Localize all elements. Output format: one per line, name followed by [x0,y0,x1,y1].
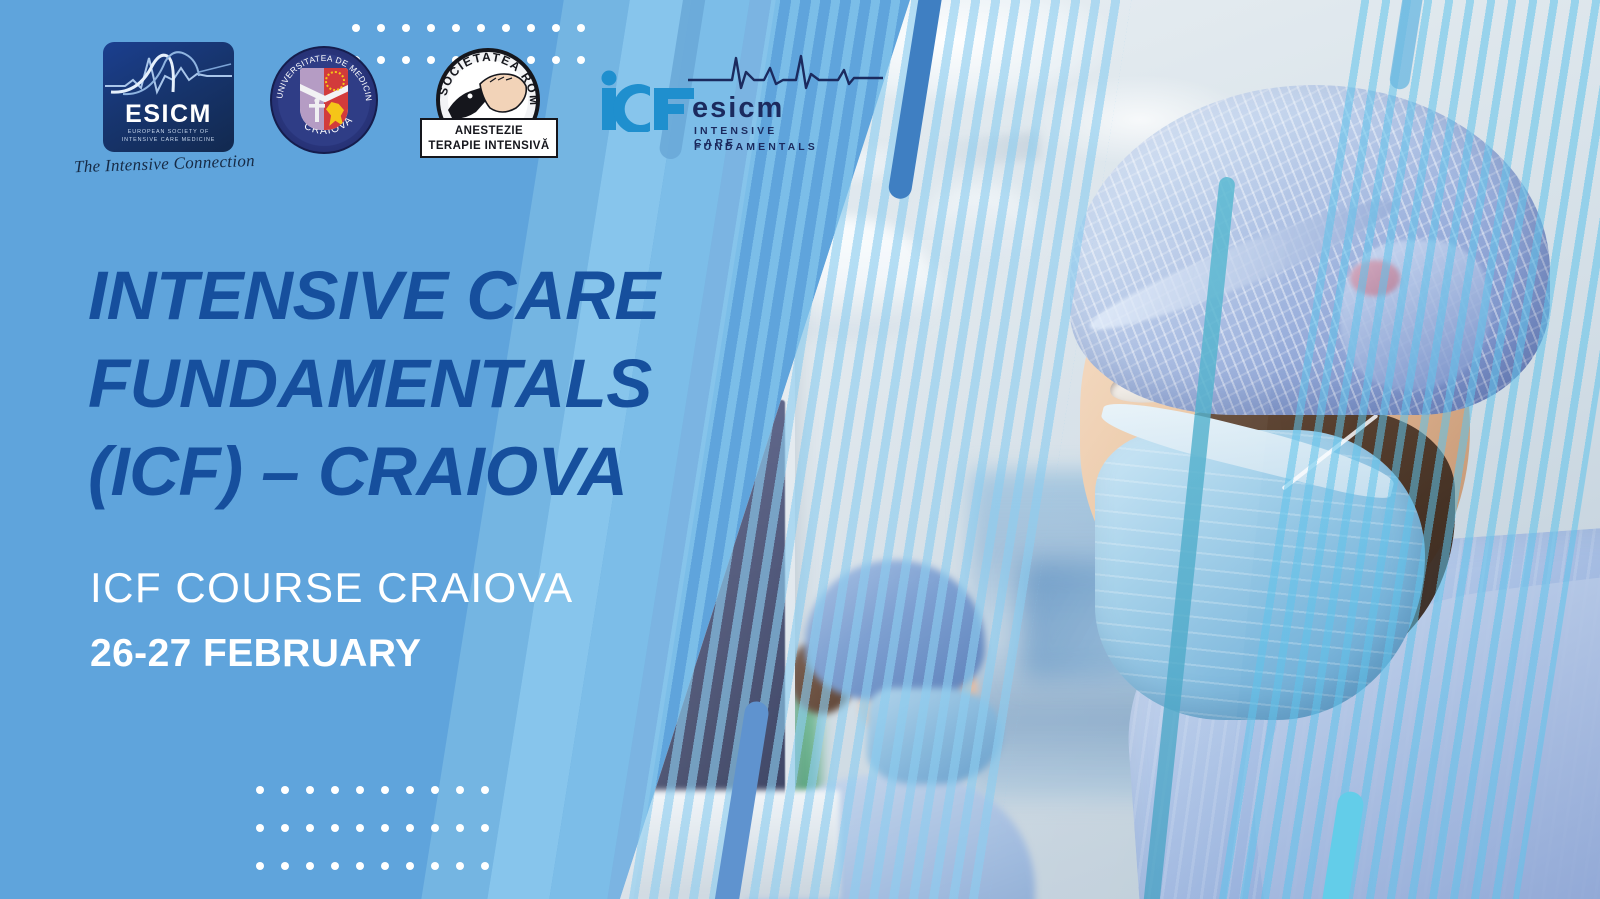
icf-monogram-icon [600,70,700,132]
umf-coat-of-arms [300,68,348,130]
esicm-tagline: The Intensive Connection [74,151,265,178]
srati-box-line1: ANESTEZIE [422,124,556,139]
decorative-dot [356,824,364,832]
decorative-dot [381,862,389,870]
umf-caduceus-icon [308,98,326,124]
decorative-dot [256,824,264,832]
icf-esicm-wordmark: esicm [692,92,784,125]
decorative-dot [281,862,289,870]
esicm-waveform-icon [103,46,234,104]
decorative-dot [331,862,339,870]
page-title: INTENSIVE CAREFUNDAMENTALS(ICF) – CRAIOV… [88,252,728,516]
logo-icf[interactable]: esicm INTENSIVE CARE FUNDAMENTALS [600,48,810,158]
logo-srati[interactable]: SOCIETATEA ROMÂNĂ ANESTEZIE TERAPIE INTE… [420,48,558,158]
decorative-dot [356,786,364,794]
esicm-subtitle-line2: INTENSIVE CARE MEDICINE [103,136,234,144]
decorative-dot [256,786,264,794]
event-subtitle: ICF COURSE CRAIOVA [90,564,574,612]
icf-ecg-waveform-icon [688,50,883,92]
decorative-dot [381,824,389,832]
event-banner: ESICM EUROPEAN SOCIETY OF INTENSIVE CARE… [0,0,1600,899]
decorative-dot [281,786,289,794]
worker-cap-highlight [1350,260,1400,296]
decorative-dot [306,862,314,870]
esicm-subtitle-line1: EUROPEAN SOCIETY OF [103,128,234,136]
decorative-dot [356,862,364,870]
decorative-dot [381,786,389,794]
decorative-dot [306,786,314,794]
decorative-dot [406,862,414,870]
srati-name-box: ANESTEZIE TERAPIE INTENSIVĂ [420,118,558,158]
page-title-line-2: FUNDAMENTALS [88,340,728,428]
page-title-line-3: (ICF) – CRAIOVA [88,428,728,516]
esicm-subtitle: EUROPEAN SOCIETY OF INTENSIVE CARE MEDIC… [103,128,234,144]
decorative-dot [256,862,264,870]
decorative-dot [306,824,314,832]
decorative-dot [406,786,414,794]
decorative-dot [281,824,289,832]
logo-bar: ESICM EUROPEAN SOCIETY OF INTENSIVE CARE… [0,0,860,190]
umf-eu-stars-icon [325,71,345,91]
esicm-wordmark: ESICM [103,100,234,129]
event-date: 26-27 FEBRUARY [90,632,421,676]
srati-box-line2: TERAPIE INTENSIVĂ [422,139,556,154]
background-staff-face-mask [867,688,1002,784]
page-title-line-1: INTENSIVE CARE [88,252,728,340]
logo-esicm[interactable]: ESICM EUROPEAN SOCIETY OF INTENSIVE CARE… [96,42,246,172]
decorative-dot [331,824,339,832]
logo-umf-craiova[interactable]: UNIVERSITATEA DE MEDICINA SI FARMACIE CR… [270,46,378,154]
decorative-dot [406,824,414,832]
svg-text:SOCIETATEA ROMÂNĂ: SOCIETATEA ROMÂNĂ [436,48,540,107]
surgical-lamp-secondary [920,185,1040,270]
icf-tagline-line2: FUNDAMENTALS [694,141,818,153]
decorative-dot [331,786,339,794]
